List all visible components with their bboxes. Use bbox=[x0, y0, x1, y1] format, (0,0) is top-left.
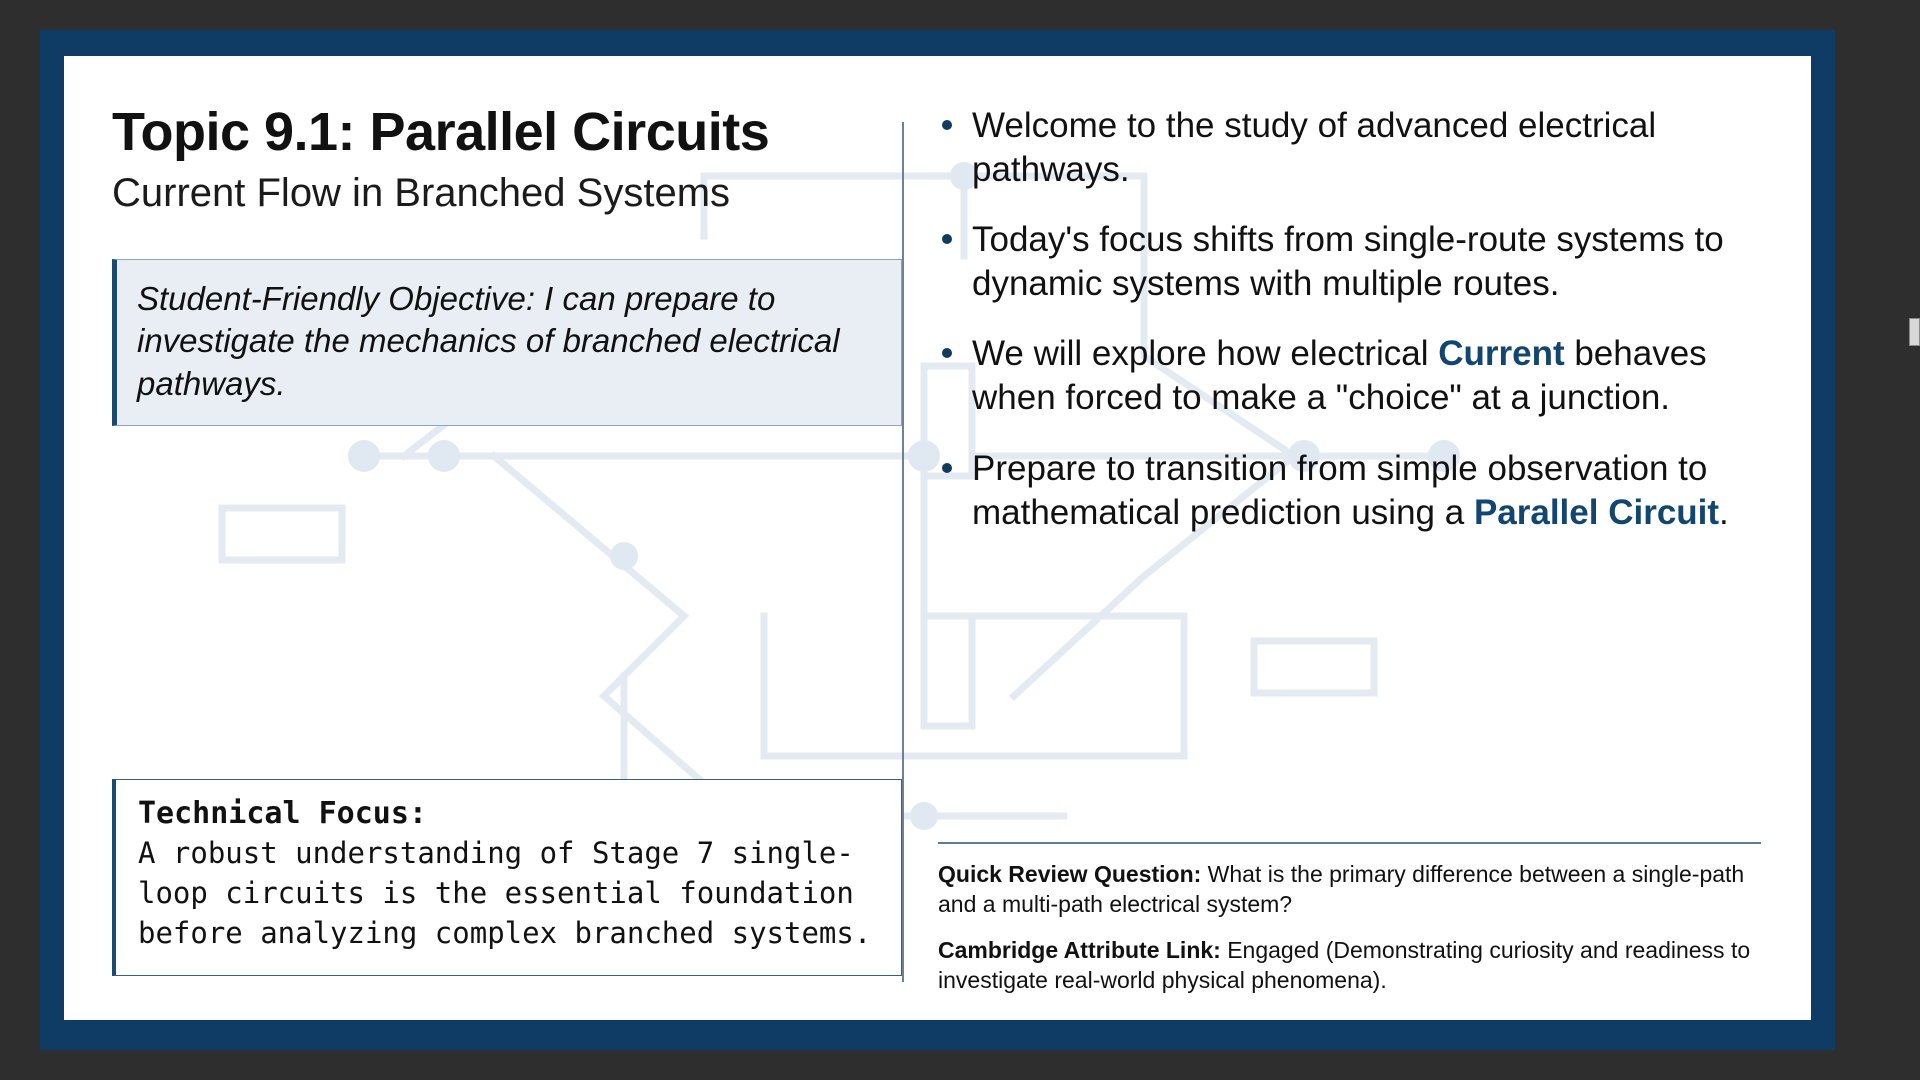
objective-callout-box: Student-Friendly Objective: I can prepar… bbox=[112, 259, 902, 426]
list-item: Prepare to transition from simple observ… bbox=[938, 447, 1761, 535]
footer-block: Quick Review Question: What is the prima… bbox=[938, 842, 1761, 1000]
attribute-link-line: Cambridge Attribute Link: Engaged (Demon… bbox=[938, 936, 1761, 996]
technical-focus-body: A robust understanding of Stage 7 single… bbox=[138, 833, 881, 953]
bullet-dot-icon bbox=[942, 120, 952, 130]
page-subtitle: Current Flow in Branched Systems bbox=[112, 169, 902, 217]
list-item: We will explore how electrical Current b… bbox=[938, 332, 1761, 420]
technical-focus-box: Technical Focus: A robust understanding … bbox=[112, 779, 902, 976]
technical-focus-heading: Technical Focus: bbox=[138, 796, 881, 831]
page-title: Topic 9.1: Parallel Circuits bbox=[112, 104, 902, 161]
bullet-text-pre: Today's focus shifts from single-route s… bbox=[972, 220, 1724, 303]
slide-frame: Topic 9.1: Parallel Circuits Current Flo… bbox=[40, 30, 1835, 1050]
bullet-dot-icon bbox=[942, 348, 952, 358]
bullet-dot-icon bbox=[942, 463, 952, 473]
bullet-text-pre: Welcome to the study of advanced electri… bbox=[972, 106, 1656, 189]
attribute-link-label: Cambridge Attribute Link: bbox=[938, 937, 1221, 963]
bullet-text-post: . bbox=[1719, 493, 1729, 532]
right-column: Welcome to the study of advanced electri… bbox=[904, 104, 1771, 1000]
bullet-keyword: Parallel Circuit bbox=[1474, 493, 1719, 532]
list-item: Today's focus shifts from single-route s… bbox=[938, 218, 1761, 306]
quick-review-label: Quick Review Question: bbox=[938, 861, 1201, 887]
screen-backdrop: Topic 9.1: Parallel Circuits Current Flo… bbox=[0, 0, 1920, 1080]
bullet-text-pre: We will explore how electrical bbox=[972, 334, 1438, 373]
objective-text: Student-Friendly Objective: I can prepar… bbox=[137, 278, 881, 405]
slide-canvas: Topic 9.1: Parallel Circuits Current Flo… bbox=[64, 56, 1811, 1020]
left-column: Topic 9.1: Parallel Circuits Current Flo… bbox=[112, 104, 902, 1000]
slide-content: Topic 9.1: Parallel Circuits Current Flo… bbox=[64, 56, 1811, 1020]
list-item: Welcome to the study of advanced electri… bbox=[938, 104, 1761, 192]
edge-artifact bbox=[1909, 318, 1920, 346]
quick-review-line: Quick Review Question: What is the prima… bbox=[938, 860, 1761, 920]
bullet-keyword: Current bbox=[1438, 334, 1564, 373]
bullet-dot-icon bbox=[942, 234, 952, 244]
bullet-list: Welcome to the study of advanced electri… bbox=[938, 104, 1761, 535]
